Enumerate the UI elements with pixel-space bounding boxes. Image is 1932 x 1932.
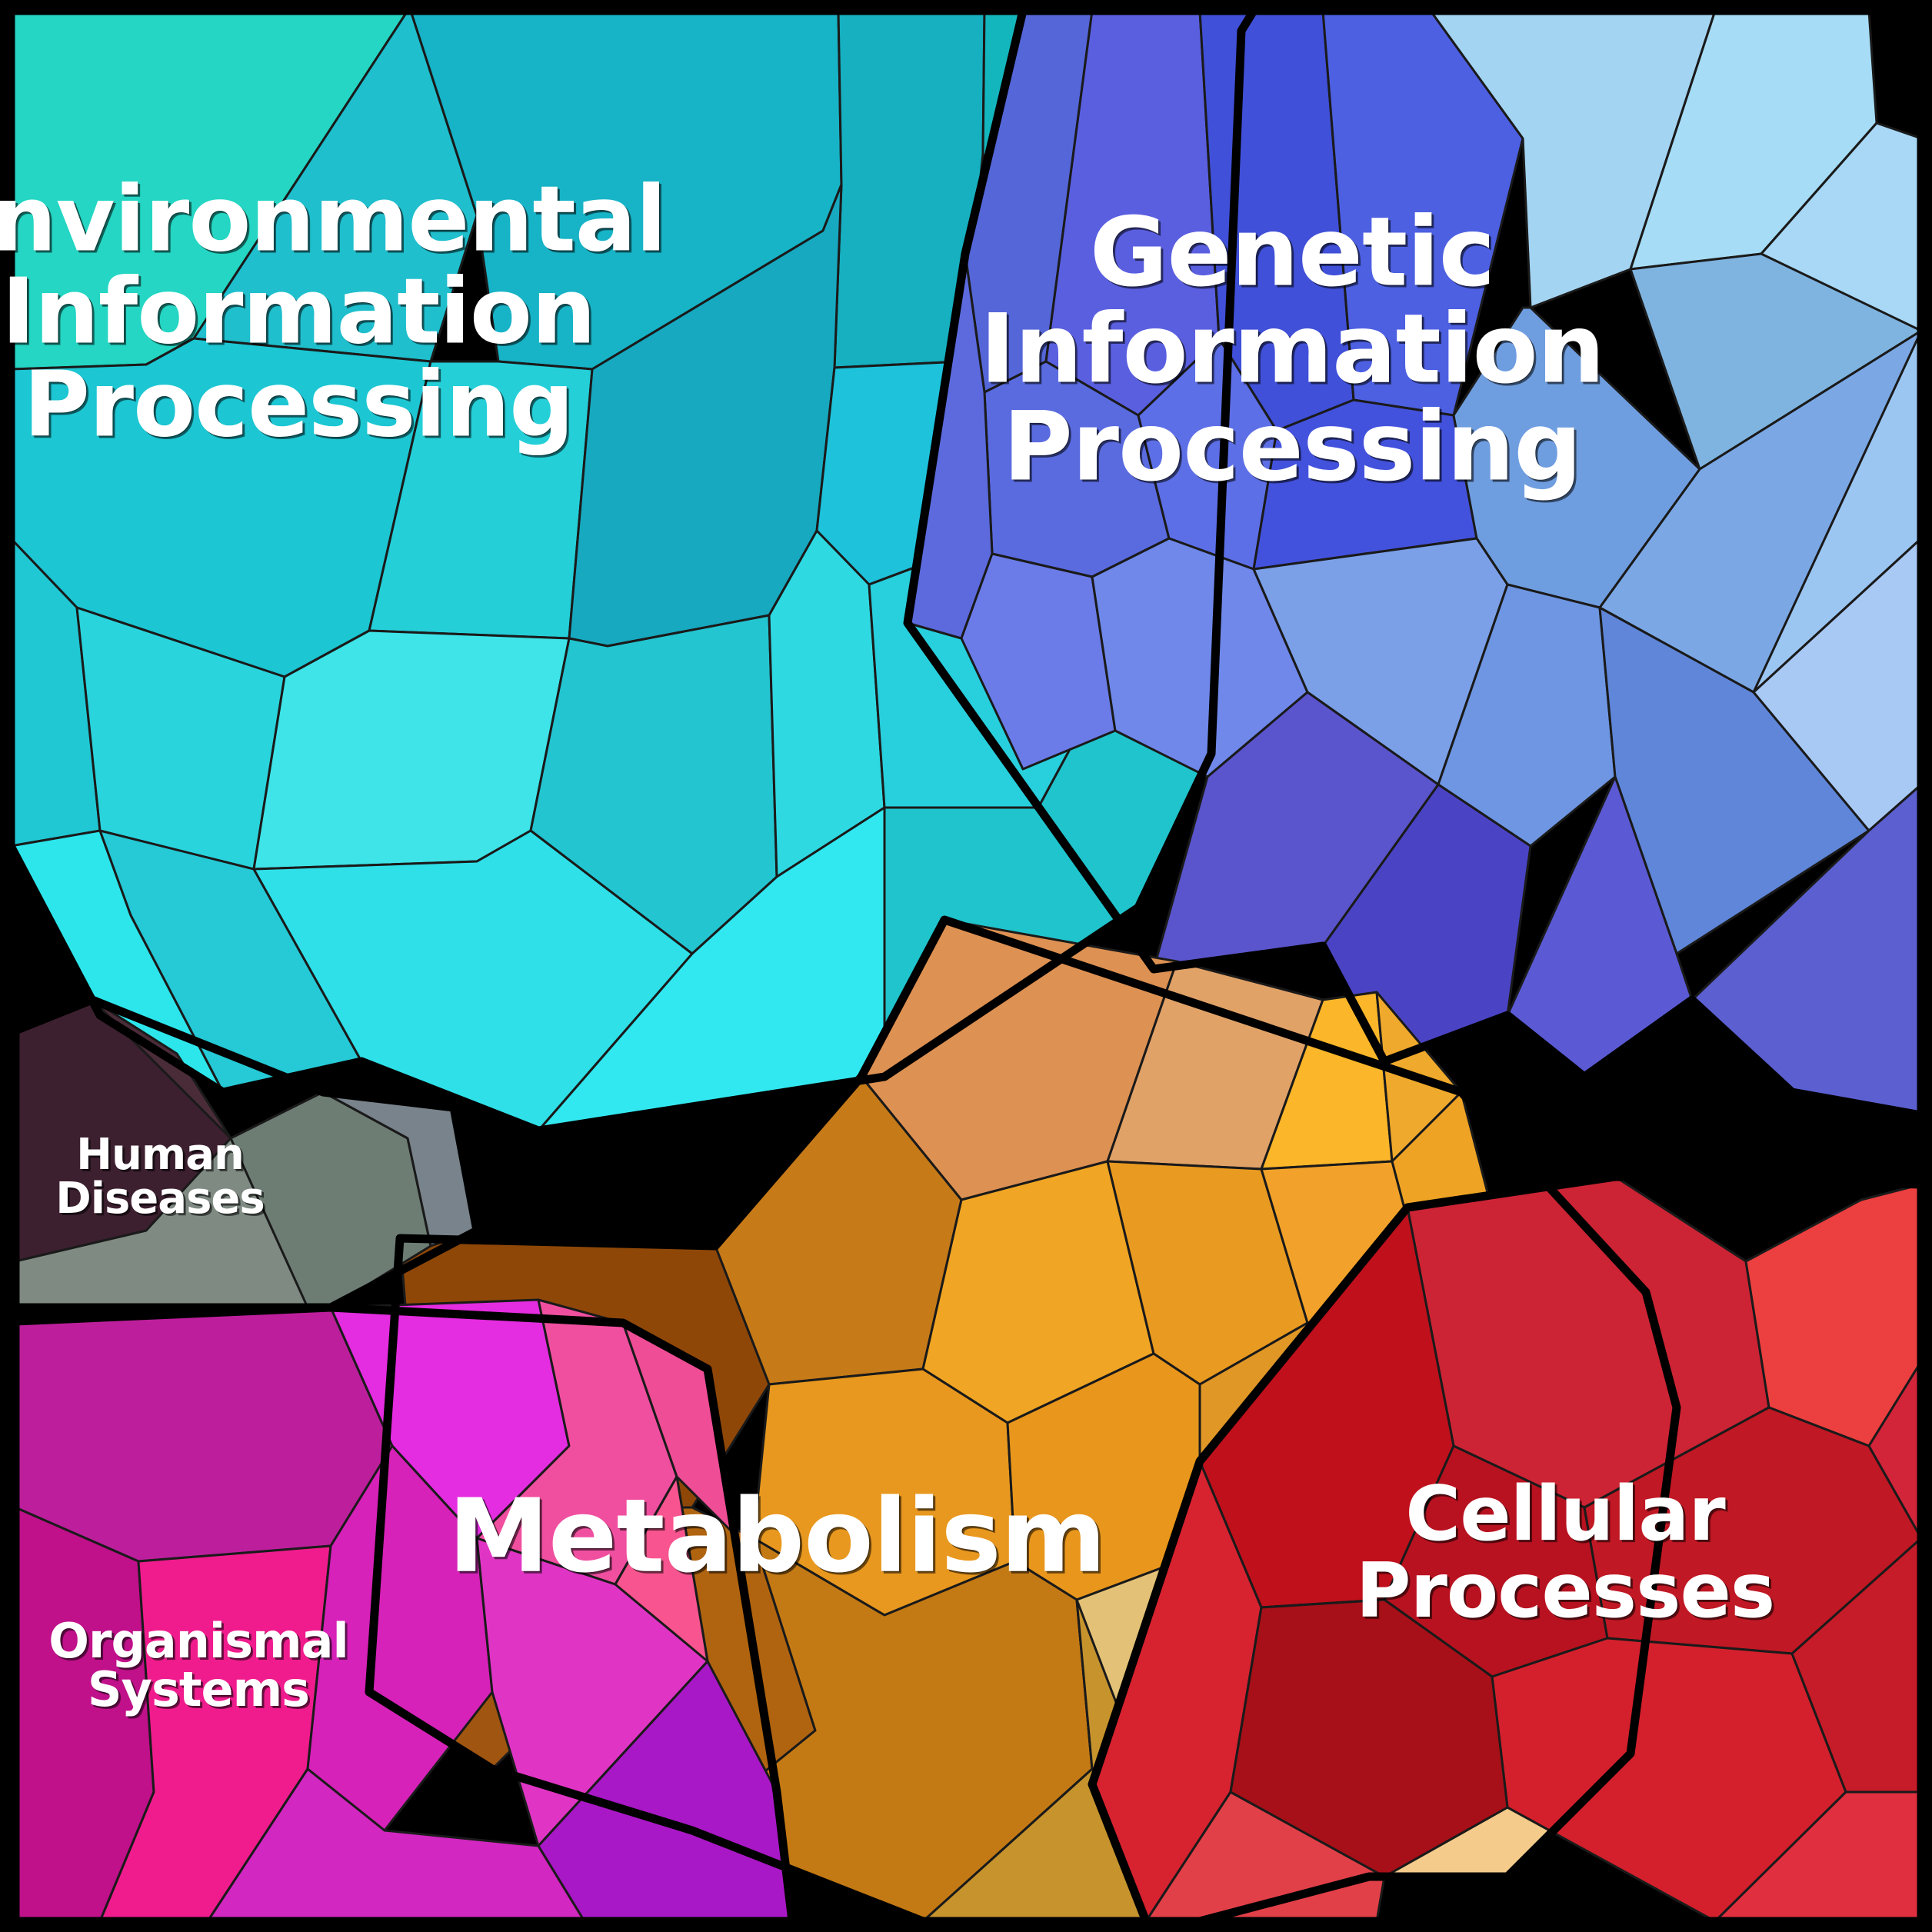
voronoi-cell[interactable] [15,1307,392,1561]
voronoi-treemap-figure: Environmental Information Processing Gen… [0,0,1932,1932]
voronoi-diagram [0,0,1932,1932]
